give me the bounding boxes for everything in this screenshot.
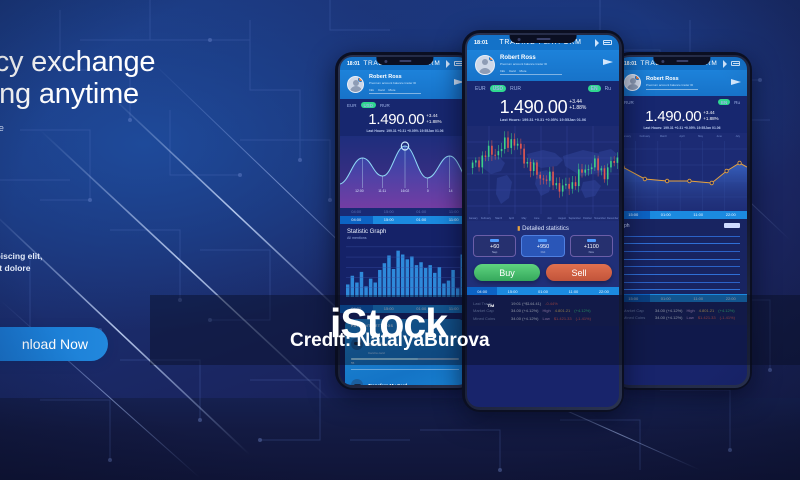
currency-usd-center[interactable]: USD bbox=[490, 85, 507, 92]
stat-month-2: Nov bbox=[573, 250, 610, 254]
c-month-6: July bbox=[543, 217, 556, 220]
delta-abs-right: +3.44 bbox=[703, 110, 714, 115]
list-row[interactable] bbox=[624, 289, 740, 290]
detailed-statistics-label: Detailed statistics bbox=[522, 226, 569, 232]
currency-rur-center[interactable]: RUR bbox=[510, 86, 521, 92]
r-month-5: June bbox=[710, 135, 729, 138]
c-month-8: September bbox=[568, 217, 581, 220]
time-tick-1[interactable]: 15:00 bbox=[373, 216, 406, 224]
avatar-center bbox=[475, 55, 495, 75]
c-month-9: October bbox=[581, 217, 594, 220]
statistic-section-left: Statistic Graph All mentions bbox=[340, 224, 470, 305]
price-delta-left: +3.44 +1.88% bbox=[426, 112, 441, 124]
card-icon-2 bbox=[351, 379, 363, 385]
profile-text-left: Robert Ross Premium account balance trad… bbox=[369, 74, 421, 94]
stat-value-1: +950 bbox=[524, 244, 561, 250]
paper-plane-icon-right[interactable] bbox=[731, 79, 741, 85]
status-badge-right bbox=[635, 75, 640, 80]
status-time-left: 18:01 bbox=[347, 61, 360, 67]
faint-tick-2: 01:00 bbox=[405, 208, 438, 216]
hero-copy: urrency exchange , trading anytime ons f… bbox=[0, 46, 248, 275]
quote-block-left: 1.490.00 +3.44 +1.88% Last Hours: 199.31… bbox=[340, 111, 470, 136]
c-month-11: December bbox=[606, 217, 619, 220]
r-month-1: February bbox=[636, 135, 655, 138]
status-icons-right bbox=[721, 61, 740, 66]
currency-rur-left[interactable]: RUR bbox=[380, 103, 390, 108]
payment-item-transfers-my-card[interactable]: Transfers My Card Transfer to my card bbox=[351, 374, 459, 385]
profile-tab-2[interactable]: More bbox=[389, 88, 396, 92]
time-axis-center[interactable]: 04:00 15:00 01:00 11:00 22:00 bbox=[467, 287, 619, 295]
wifi-icon-right bbox=[723, 60, 727, 68]
stat-month-0: Sep bbox=[476, 250, 513, 254]
wifi-icon-center bbox=[595, 39, 599, 47]
profile-header-left[interactable]: Robert Ross Premium account balance trad… bbox=[340, 70, 470, 99]
list-row[interactable] bbox=[624, 259, 740, 260]
line-chart-right: January February March April May June Ju… bbox=[617, 133, 747, 211]
user-name-center: Robert Ross bbox=[500, 55, 562, 61]
wifi-icon bbox=[446, 60, 450, 68]
watermark-credit: Credit: NatalyaBurova bbox=[290, 330, 490, 352]
poster-stage: urrency exchange , trading anytime ons f… bbox=[0, 0, 800, 480]
last-hours-right: Last Hours: 199.31 +0.31 +0.05% 19:55Jan… bbox=[623, 126, 741, 130]
trade-buttons: Buy Sell bbox=[467, 262, 619, 287]
quote-block-center: 1.490.00 +3.44 +1.88% Last Hours: 199.31… bbox=[467, 96, 619, 126]
list-row[interactable] bbox=[624, 274, 740, 275]
hero-subtitle: ons for exchange bbox=[0, 123, 248, 134]
profile-text-right: Robert Ross Premium account balance trad… bbox=[646, 76, 698, 90]
lang-alt-right[interactable]: Ru bbox=[734, 100, 740, 105]
faint-tick-0: 04:00 bbox=[340, 208, 373, 216]
lang-chip-right[interactable]: EN bbox=[718, 99, 730, 105]
currency-bar-right[interactable]: RUR EN Ru bbox=[617, 96, 747, 108]
detailed-statistics-header[interactable]: ▮ Detailed statistics bbox=[467, 221, 619, 235]
profile-underline bbox=[369, 93, 421, 94]
c-month-7: August bbox=[556, 217, 569, 220]
r-time-2[interactable]: 11:00 bbox=[682, 211, 715, 219]
rows-list-right: ph bbox=[617, 219, 747, 295]
profile-header-right[interactable]: Robert Ross Premium account balance trad… bbox=[617, 70, 747, 96]
month-ticks-right: January February March April May June Ju… bbox=[617, 135, 747, 138]
stat-month-1: Oct bbox=[524, 250, 561, 254]
user-meta-center: Premium account balance trader ID bbox=[500, 62, 562, 67]
lorem-line-1: , consectetur adipiscing elit, bbox=[0, 250, 248, 262]
c-month-1: February bbox=[480, 217, 493, 220]
wave-tick-2: 16:02 bbox=[394, 189, 417, 193]
profile-tab-center-0[interactable]: Info bbox=[500, 69, 505, 73]
delta-pct-right: +1.88% bbox=[703, 116, 718, 121]
sell-button[interactable]: Sell bbox=[546, 264, 612, 281]
time-axis-faint-left: 04:00 15:00 01:00 11:00 bbox=[340, 208, 470, 216]
status-time-center: 18:01 bbox=[474, 40, 488, 46]
lorem-line-2: didunt ut labore et dolore bbox=[0, 262, 248, 274]
price-value-center: 1.490.00 bbox=[500, 98, 568, 116]
last-hours-center: Last Hours: 199.31 +0.31 +0.05% 19:55Jan… bbox=[474, 118, 612, 122]
list-row[interactable] bbox=[624, 282, 740, 283]
buy-button[interactable]: Buy bbox=[474, 264, 540, 281]
status-icons-left bbox=[444, 61, 463, 66]
statistic-subtitle: All mentions bbox=[340, 235, 470, 243]
status-time-right: 18:01 bbox=[624, 61, 637, 67]
status-badge-center bbox=[489, 56, 494, 61]
stat-card-marker bbox=[587, 239, 596, 242]
profile-tab-0[interactable]: Info bbox=[369, 88, 374, 92]
watermark-trademark: ™ bbox=[487, 303, 495, 312]
payment-name-1: Transfers My Card bbox=[368, 383, 407, 385]
lorem-text: , consectetur adipiscing elit, didunt ut… bbox=[0, 250, 248, 275]
r-month-3: April bbox=[673, 135, 692, 138]
stat-cards-center: +60 Sep +950 Oct +1100 Nov bbox=[467, 235, 619, 263]
rows-title-right: ph bbox=[624, 223, 630, 229]
wave-ticks-left: 12:00 11:11 16:02 0 14 bbox=[340, 189, 470, 193]
c-month-2: March bbox=[492, 217, 505, 220]
user-name-right: Robert Ross bbox=[646, 76, 698, 82]
uiux-title: I/UX bbox=[0, 178, 248, 210]
c-month-10: November bbox=[594, 217, 607, 220]
time-tick-0[interactable]: 04:00 bbox=[340, 216, 373, 224]
c-time-4[interactable]: 22:00 bbox=[589, 287, 619, 295]
paper-plane-icon-center[interactable] bbox=[603, 59, 613, 65]
time-tick-2[interactable]: 01:00 bbox=[405, 216, 438, 224]
quote-block-right: 1.490.00 +3.44 +1.88% Last Hours: 199.31… bbox=[617, 108, 747, 133]
delta-pct-center: +1.88% bbox=[569, 105, 586, 111]
uiux-subtitle: Mobile App bbox=[0, 212, 248, 224]
stat-card-oct[interactable]: +950 Oct bbox=[521, 235, 564, 258]
wave-chart-left: 12:00 11:11 16:02 0 14 bbox=[340, 136, 470, 208]
stat-card-marker bbox=[490, 239, 499, 242]
list-row[interactable] bbox=[624, 236, 740, 237]
r-time-3[interactable]: 22:00 bbox=[715, 211, 748, 219]
r-month-2: March bbox=[654, 135, 673, 138]
quote-row-center: 1.490.00 +3.44 +1.88% bbox=[474, 98, 612, 116]
c-month-4: May bbox=[518, 217, 531, 220]
month-axis-center: January February March April May June Ju… bbox=[467, 217, 619, 220]
rows-toggle-right[interactable] bbox=[724, 223, 740, 228]
price-delta-right: +3.44 +1.88% bbox=[703, 109, 718, 121]
stat-card-sep[interactable]: +60 Sep bbox=[473, 235, 516, 258]
lang-chip-center[interactable]: EN bbox=[588, 85, 601, 92]
profile-tabs-left[interactable]: Info Card More bbox=[369, 88, 421, 92]
wave-tick-1: 11:11 bbox=[371, 189, 394, 193]
user-meta-right: Premium account balance trader ID bbox=[646, 83, 698, 88]
profile-tab-center-1[interactable]: Card bbox=[509, 69, 516, 73]
currency-rur-right[interactable]: RUR bbox=[624, 100, 634, 105]
c-time-2[interactable]: 01:00 bbox=[528, 287, 558, 295]
profile-header-center[interactable]: Robert Ross Premium account balance trad… bbox=[467, 50, 619, 81]
profile-underline-center bbox=[500, 74, 562, 75]
currency-eur-left[interactable]: EUR bbox=[347, 103, 357, 108]
stat-value-0: +60 bbox=[476, 244, 513, 250]
avatar bbox=[347, 76, 364, 93]
status-badge bbox=[358, 77, 363, 82]
user-meta-left: Premium account balance trader ID bbox=[369, 81, 421, 86]
c-time-3[interactable]: 11:00 bbox=[558, 287, 588, 295]
profile-text-center: Robert Ross Premium account balance trad… bbox=[500, 55, 562, 75]
c-month-3: April bbox=[505, 217, 518, 220]
c-month-0: January bbox=[467, 217, 480, 220]
c-time-1[interactable]: 15:00 bbox=[497, 287, 527, 295]
stat-card-nov[interactable]: +1100 Nov bbox=[570, 235, 613, 258]
wave-tick-3: 0 bbox=[416, 189, 439, 193]
bar-chart-icon: ▮ bbox=[517, 226, 520, 232]
download-now-button[interactable]: nload Now bbox=[0, 327, 108, 361]
avatar-right bbox=[624, 74, 641, 91]
statistic-title: Statistic Graph bbox=[340, 224, 470, 235]
c-month-5: June bbox=[530, 217, 543, 220]
delta-pct-left: +1.88% bbox=[426, 119, 441, 124]
user-name-left: Robert Ross bbox=[369, 74, 421, 80]
stat-value-2: +1100 bbox=[573, 244, 610, 250]
last-hours-left: Last Hours: 199.31 +0.31 +0.05% 19:55Jan… bbox=[346, 129, 464, 133]
profile-tabs-center[interactable]: Info Card More bbox=[500, 69, 562, 73]
price-value-right: 1.490.00 bbox=[645, 109, 701, 124]
payment-item-body-1: Transfers My Card Transfer to my card bbox=[368, 374, 459, 385]
profile-tab-1[interactable]: Card bbox=[378, 88, 385, 92]
stat-card-marker bbox=[538, 239, 547, 242]
lang-alt-center[interactable]: Ru bbox=[605, 86, 611, 92]
price-value-left: 1.490.00 bbox=[368, 112, 424, 127]
status-icons-center bbox=[593, 40, 612, 45]
currency-bar-left[interactable]: EUR USD RUR bbox=[340, 99, 470, 111]
payment-divider-0 bbox=[351, 369, 459, 370]
battery-icon-right bbox=[731, 61, 740, 66]
wave-tick-0: 12:00 bbox=[348, 189, 371, 193]
time-axis-right[interactable]: 15:00 01:00 11:00 22:00 bbox=[617, 211, 747, 219]
price-delta-center: +3.44 +1.88% bbox=[569, 98, 586, 112]
battery-icon-center bbox=[603, 40, 612, 45]
delta-abs-center: +3.44 bbox=[569, 99, 582, 105]
faint-tick-1: 15:00 bbox=[373, 208, 406, 216]
profile-tab-center-2[interactable]: More bbox=[520, 69, 527, 73]
profile-underline-right bbox=[646, 89, 698, 90]
headline-line-2: , trading anytime bbox=[0, 78, 248, 110]
currency-bar-center[interactable]: EUR USD RUR EN Ru bbox=[467, 81, 619, 96]
list-row[interactable] bbox=[624, 266, 740, 267]
page-title: urrency exchange , trading anytime bbox=[0, 46, 248, 111]
list-row[interactable] bbox=[624, 251, 740, 252]
phone-left-notch bbox=[376, 57, 433, 65]
headline-line-1: urrency exchange bbox=[0, 46, 155, 78]
candlestick-chart-center: January February March April May June Ju… bbox=[467, 126, 619, 221]
delta-abs-left: +3.44 bbox=[426, 113, 437, 118]
r-time-1[interactable]: 01:00 bbox=[650, 211, 683, 219]
time-axis-left[interactable]: 04:00 15:00 01:00 11:00 bbox=[340, 216, 470, 224]
phone-center-notch bbox=[510, 35, 577, 43]
currency-eur-center[interactable]: EUR bbox=[475, 86, 486, 92]
rows-header-right: ph bbox=[624, 223, 740, 229]
c-time-0[interactable]: 04:00 bbox=[467, 287, 497, 295]
wave-tick-4: 14 bbox=[439, 189, 462, 193]
phone-right-notch bbox=[653, 57, 710, 65]
r-month-4: May bbox=[691, 135, 710, 138]
r-month-6: July bbox=[728, 135, 747, 138]
currency-usd-left[interactable]: USD bbox=[361, 102, 377, 108]
quote-row-left: 1.490.00 +3.44 +1.88% bbox=[346, 112, 464, 127]
quote-row-right: 1.490.00 +3.44 +1.88% bbox=[623, 109, 741, 124]
list-row[interactable] bbox=[624, 243, 740, 244]
